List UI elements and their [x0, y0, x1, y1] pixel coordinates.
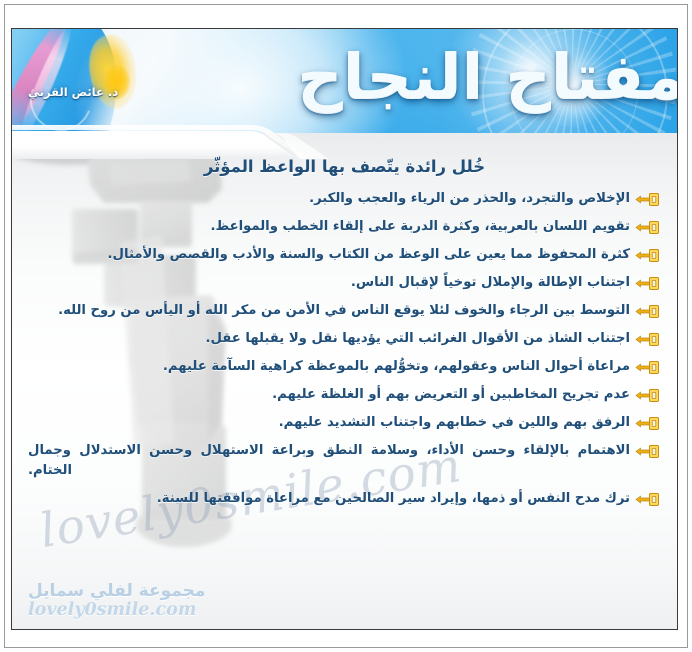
header-calligraphy: مفتاح النجاح — [319, 31, 663, 131]
key-icon — [635, 191, 661, 208]
key-icon — [635, 247, 661, 264]
list-item: تقويم اللسان بالعربية، وكثرة الدربة على … — [28, 217, 661, 237]
list-item-text: كثرة المحفوظ مما يعين على الوعظ من الكتا… — [28, 245, 630, 265]
key-icon — [635, 275, 661, 292]
list-item-text: اجتناب الإطالة والإملال توخياً لإقبال ال… — [28, 273, 630, 293]
list-item: اجتناب الشاذ من الأقوال الغرائب التي يؤد… — [28, 329, 661, 349]
infographic-page: مفتاح النجاح د. عائض القرني — [0, 0, 692, 652]
list-item-text: التوسط بين الرجاء والخوف لئلا يوقع الناس… — [28, 301, 630, 321]
list-item: اجتناب الإطالة والإملال توخياً لإقبال ال… — [28, 273, 661, 293]
list-item-text: الاهتمام بالإلقاء وحسن الأداء، وسلامة ال… — [28, 441, 630, 482]
key-icon — [635, 303, 661, 320]
author-name-label: د. عائض القرني — [28, 85, 118, 99]
key-icon — [635, 219, 661, 236]
bullet-list: الإخلاص والتجرد، والحذر من الرياء والعجب… — [28, 189, 661, 509]
list-item: الاهتمام بالإلقاء وحسن الأداء، وسلامة ال… — [28, 441, 661, 482]
list-item: عدم تجريح المخاطبين أو التعريض بهم أو ال… — [28, 385, 661, 405]
list-item-text: ترك مدح النفس أو ذمها، وإيراد سير الصالح… — [28, 489, 630, 509]
footer-site-label: lovely0smile.com — [28, 601, 205, 619]
list-item-text: الرفق بهم واللين في خطابهم واجتناب التشد… — [28, 413, 630, 433]
list-item: الرفق بهم واللين في خطابهم واجتناب التشد… — [28, 413, 661, 433]
calligraphy-title-text: مفتاح النجاح — [297, 46, 677, 108]
key-icon — [635, 331, 661, 348]
key-icon — [635, 491, 661, 508]
list-item-text: تقويم اللسان بالعربية، وكثرة الدربة على … — [28, 217, 630, 237]
list-item-text: عدم تجريح المخاطبين أو التعريض بهم أو ال… — [28, 385, 630, 405]
list-item-text: اجتناب الشاذ من الأقوال الغرائب التي يؤد… — [28, 329, 630, 349]
footer-logo: مجموعة لفلي سمايل lovely0smile.com — [28, 583, 205, 619]
footer-arabic-label: مجموعة لفلي سمايل — [28, 583, 205, 601]
list-item: ترك مدح النفس أو ذمها، وإيراد سير الصالح… — [28, 489, 661, 509]
list-item-text: الإخلاص والتجرد، والحذر من الرياء والعجب… — [28, 189, 630, 209]
header-banner: مفتاح النجاح د. عائض القرني — [12, 29, 677, 133]
key-icon — [635, 359, 661, 376]
content-card: مفتاح النجاح د. عائض القرني — [11, 28, 678, 630]
list-item: التوسط بين الرجاء والخوف لئلا يوقع الناس… — [28, 301, 661, 321]
author-badge: د. عائض القرني — [22, 79, 124, 102]
list-item: الإخلاص والتجرد، والحذر من الرياء والعجب… — [28, 189, 661, 209]
list-item: مراعاة أحوال الناس وعقولهم، وتخوُّلهم با… — [28, 357, 661, 377]
key-icon — [635, 415, 661, 432]
list-item: كثرة المحفوظ مما يعين على الوعظ من الكتا… — [28, 245, 661, 265]
key-icon — [635, 443, 661, 460]
list-item-text: مراعاة أحوال الناس وعقولهم، وتخوُّلهم با… — [28, 357, 630, 377]
key-icon — [635, 387, 661, 404]
page-title: خُلل رائدة يتّصف بها الواعظ المؤثّر — [28, 157, 661, 176]
content-area: خُلل رائدة يتّصف بها الواعظ المؤثّر الإخ… — [12, 133, 677, 630]
